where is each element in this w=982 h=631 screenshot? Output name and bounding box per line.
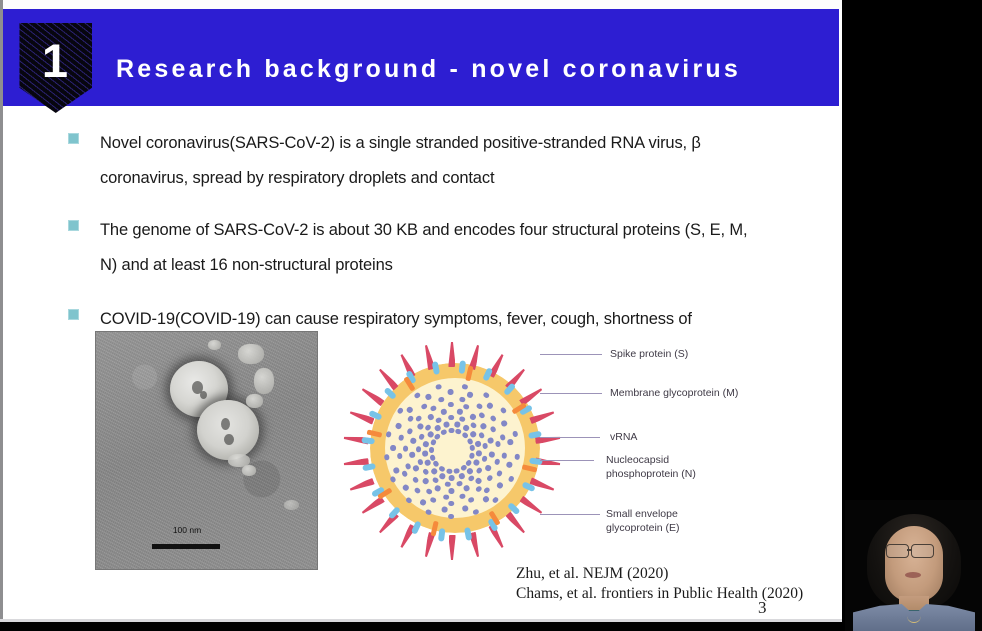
section-number-badge: 1	[18, 23, 92, 113]
bullet-square-icon	[68, 220, 79, 231]
screen-root: 1 Research background - novel coronaviru…	[0, 0, 982, 631]
micrograph-scale-label: 100 nm	[144, 525, 230, 535]
bullet-text-1: Novel coronavirus(SARS-CoV-2) is a singl…	[100, 126, 768, 196]
bullet-square-icon	[68, 133, 79, 144]
presentation-slide: 1 Research background - novel coronaviru…	[0, 0, 842, 622]
virion-particle	[197, 400, 259, 460]
diagram-label-nucleocapsid-line1: Nucleocapsid	[606, 453, 669, 467]
slide-top-strip	[0, 0, 842, 9]
leader-line-membrane	[540, 393, 602, 394]
diagram-label-spike: Spike protein (S)	[610, 347, 688, 361]
glasses-right-lens	[911, 544, 934, 558]
bullet-item-1: Novel coronavirus(SARS-CoV-2) is a singl…	[68, 126, 768, 196]
presenter-face	[885, 526, 943, 602]
bullet-square-icon	[68, 309, 79, 320]
diagram-label-nucleocapsid-line2: phosphoprotein (N)	[606, 467, 696, 481]
leader-line-vrna	[540, 437, 600, 438]
slide-bottom-edge	[0, 619, 842, 622]
slide-header-bar: 1 Research background - novel coronaviru…	[3, 9, 839, 106]
virus-structure-diagram	[338, 330, 566, 572]
glasses-left-lens	[886, 544, 909, 558]
presenter-webcam-tile[interactable]	[845, 500, 982, 631]
micrograph-scale-bar	[152, 544, 220, 549]
diagram-label-envelope-line1: Small envelope	[606, 507, 678, 521]
diagram-label-membrane: Membrane glycoprotein (M)	[610, 386, 738, 400]
leader-line-spike	[540, 354, 602, 355]
bullet-item-2: The genome of SARS-CoV-2 is about 30 KB …	[68, 213, 768, 283]
badge-number-text: 1	[18, 37, 92, 84]
page-title: Research background - novel coronavirus	[116, 55, 741, 84]
leader-line-envelope	[540, 514, 600, 515]
bullet-text-2: The genome of SARS-CoV-2 is about 30 KB …	[100, 213, 768, 283]
slide-page-number: 3	[758, 598, 767, 618]
glasses-bridge	[907, 549, 912, 551]
leader-line-nucleocapsid	[540, 460, 594, 461]
diagram-label-vrna: vRNA	[610, 430, 637, 444]
electron-micrograph-image: 100 nm	[95, 331, 318, 570]
citation-line-1: Zhu, et al. NEJM (2020)	[516, 564, 803, 584]
presenter-mouth	[905, 572, 921, 578]
diagram-label-envelope-line2: glycoprotein (E)	[606, 521, 680, 535]
